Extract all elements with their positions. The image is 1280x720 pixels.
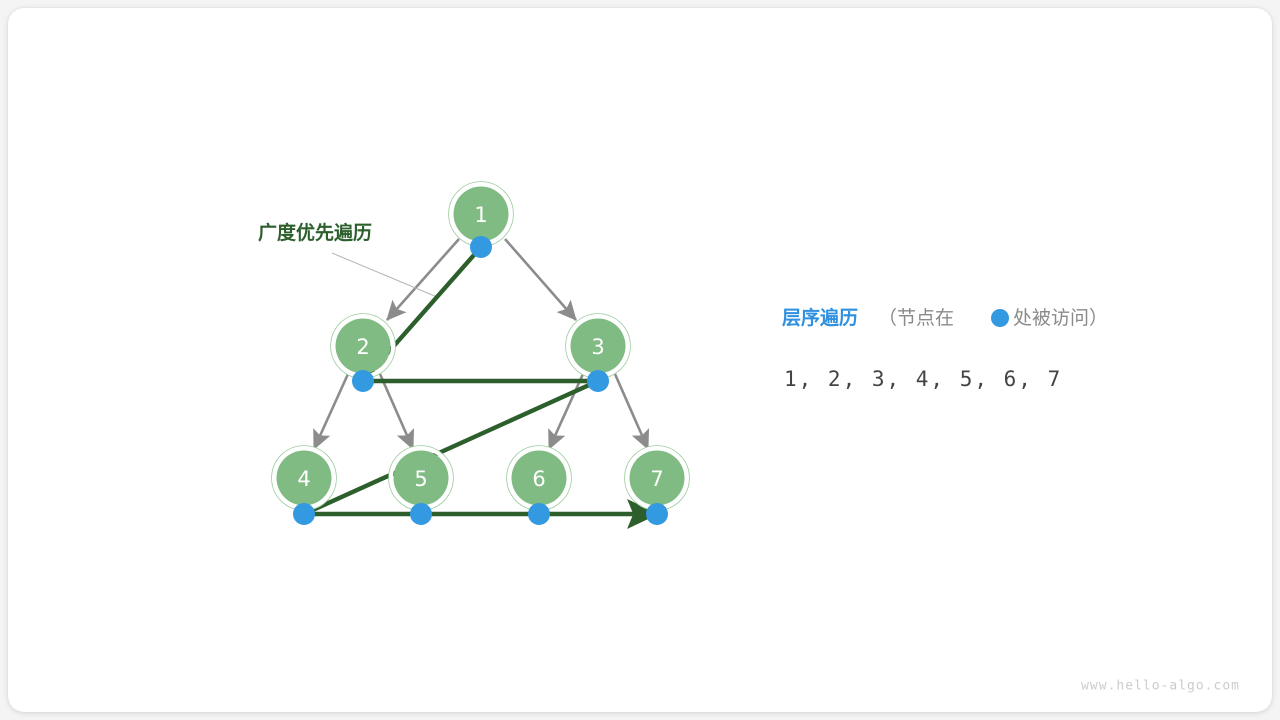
visit-dot-icon-node-2[interactable] xyxy=(352,370,374,392)
bfs-annotation-label: 广度优先遍历 xyxy=(258,221,372,244)
tree-node-2[interactable]: 2 xyxy=(331,314,395,378)
legend-title: 层序遍历 xyxy=(782,306,858,329)
node-label: 2 xyxy=(356,335,369,359)
tree-node-4[interactable]: 4 xyxy=(272,446,336,510)
node-label: 6 xyxy=(532,467,545,491)
page-root: 1 2 3 4 xyxy=(0,0,1280,720)
tree-node-3[interactable]: 3 xyxy=(566,314,630,378)
tree-edge-1-3 xyxy=(505,239,576,320)
node-label: 5 xyxy=(414,467,427,491)
blue-dot-icon xyxy=(991,309,1009,327)
tree-edge-2-5 xyxy=(380,374,413,449)
node-label: 1 xyxy=(474,203,487,227)
visit-dot-icon-node-7[interactable] xyxy=(646,503,668,525)
tree-node-5[interactable]: 5 xyxy=(389,446,453,510)
legend-note-suffix: 处被访问） xyxy=(1013,307,1108,329)
annotation-leader-line xyxy=(332,253,437,297)
visit-dot-icon-node-6[interactable] xyxy=(528,503,550,525)
diagram-canvas: 1 2 3 4 xyxy=(0,0,1280,720)
tree-node-6[interactable]: 6 xyxy=(507,446,571,510)
tree-node-7[interactable]: 7 xyxy=(625,446,689,510)
traversal-sequence: 1, 2, 3, 4, 5, 6, 7 xyxy=(784,367,1062,391)
node-label: 7 xyxy=(650,467,663,491)
node-label: 3 xyxy=(591,335,604,359)
tree-edge-2-4 xyxy=(314,374,348,449)
tree-edge-3-7 xyxy=(615,374,648,449)
node-label: 4 xyxy=(297,467,310,491)
legend-note-prefix: （节点在 xyxy=(878,307,954,329)
tree-edge-1-2 xyxy=(387,239,459,320)
legend-panel: 层序遍历 （节点在 处被访问） 1, 2, 3, 4, 5, 6, 7 xyxy=(782,306,1108,391)
visit-dot-icon-node-1[interactable] xyxy=(470,236,492,258)
site-watermark: www.hello-algo.com xyxy=(1081,679,1240,694)
visit-dot-icon-node-5[interactable] xyxy=(410,503,432,525)
tree-edge-3-6 xyxy=(549,374,583,449)
visit-dot-icon-node-4[interactable] xyxy=(293,503,315,525)
visit-dot-icon-node-3[interactable] xyxy=(587,370,609,392)
